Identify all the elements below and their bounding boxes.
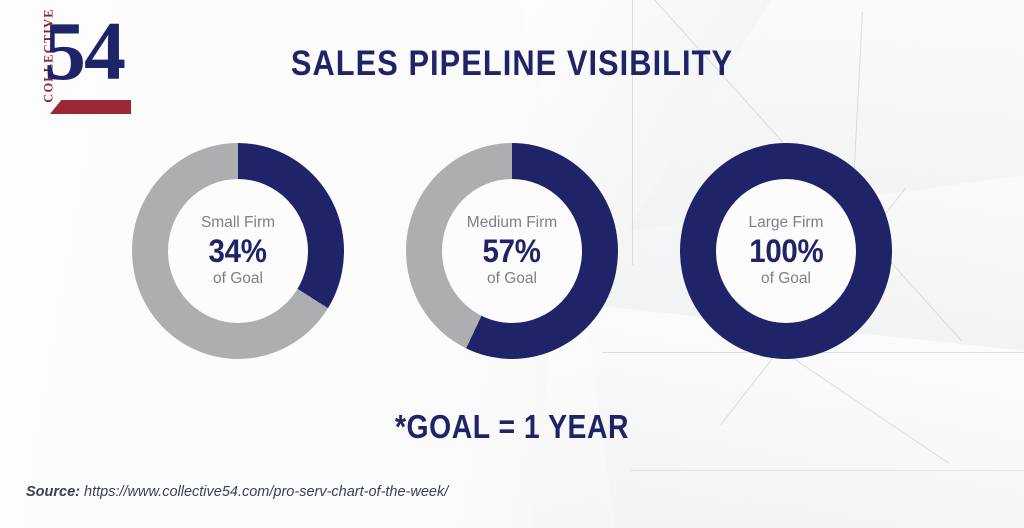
source-label: Source: (26, 484, 80, 500)
donut-center-medium-firm: Medium Firm 57% of Goal (442, 179, 582, 323)
logo-red-bar (50, 100, 131, 114)
donut-chart-large-firm: Large Firm 100% of Goal (680, 143, 892, 359)
donut-sublabel: of Goal (213, 269, 263, 288)
goal-footnote: *GOAL = 1 YEAR (72, 408, 953, 446)
source-url: https://www.collective54.com/pro-serv-ch… (84, 484, 448, 500)
donut-sublabel: of Goal (487, 269, 537, 288)
background-edge-line (630, 470, 1024, 471)
donut-label: Small Firm (201, 213, 275, 232)
donut-chart-small-firm: Small Firm 34% of Goal (132, 143, 344, 359)
donut-chart-row: Small Firm 34% of Goal Medium Firm 57% o… (0, 140, 1024, 362)
page-title: SALES PIPELINE VISIBILITY (61, 44, 962, 84)
donut-label: Large Firm (749, 213, 824, 232)
donut-value: 57% (483, 233, 541, 270)
donut-center-large-firm: Large Firm 100% of Goal (716, 179, 856, 323)
source-line: Source: https://www.collective54.com/pro… (26, 484, 448, 500)
slide-canvas: COLLECTIVE 54 SALES PIPELINE VISIBILITY … (0, 0, 1024, 528)
donut-value: 100% (749, 233, 823, 270)
donut-sublabel: of Goal (761, 269, 811, 288)
donut-center-small-firm: Small Firm 34% of Goal (168, 179, 308, 323)
donut-chart-medium-firm: Medium Firm 57% of Goal (406, 143, 618, 359)
donut-value: 34% (209, 233, 267, 270)
donut-label: Medium Firm (467, 213, 557, 232)
